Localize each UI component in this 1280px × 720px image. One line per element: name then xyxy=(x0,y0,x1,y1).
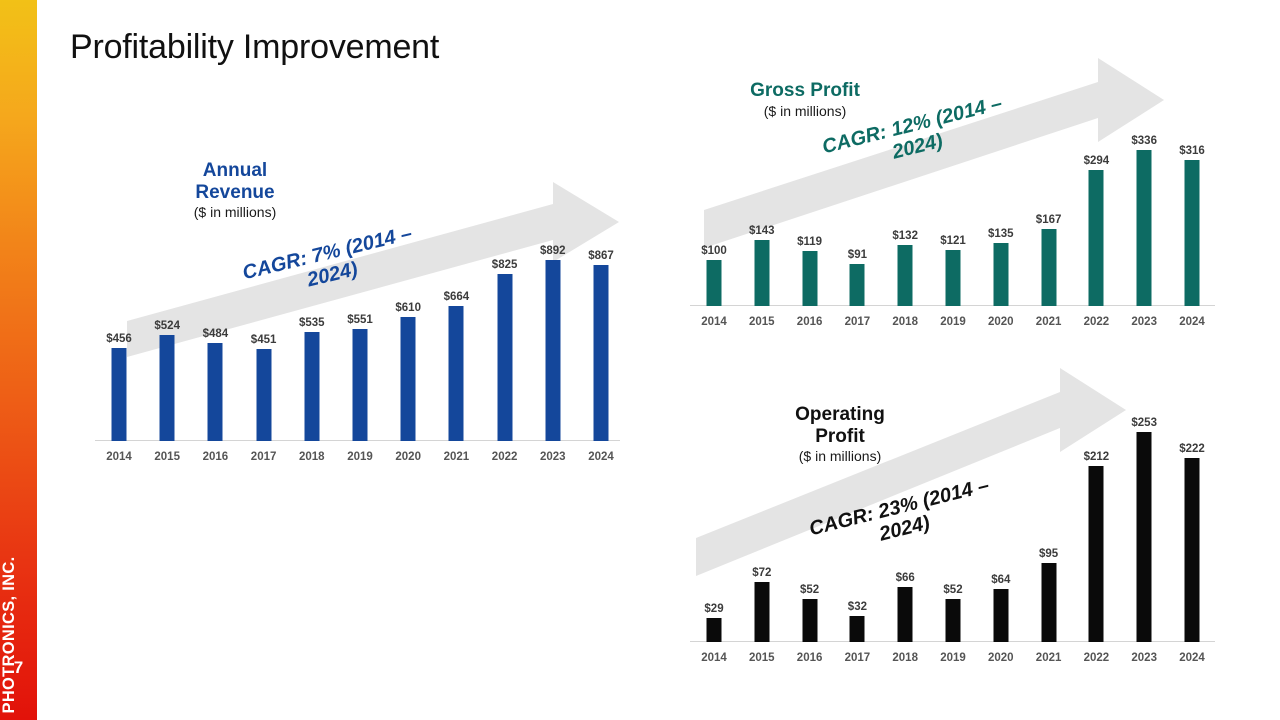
bar-group: $52 xyxy=(929,565,977,642)
bar-value-label: $143 xyxy=(749,225,775,237)
bar-group: $867 xyxy=(577,231,625,441)
bar-group: $52 xyxy=(786,565,834,642)
bar[interactable] xyxy=(850,616,865,642)
bar-group: $121 xyxy=(929,216,977,306)
bar-group: $535 xyxy=(288,298,336,441)
bar[interactable] xyxy=(707,618,722,642)
bar-value-label: $867 xyxy=(588,250,614,262)
x-axis-tick-label: 2024 xyxy=(1179,316,1205,328)
bar-group: $135 xyxy=(977,209,1025,306)
x-axis-tick-label: 2019 xyxy=(940,316,966,328)
bar-value-label: $135 xyxy=(988,228,1014,240)
bar-value-label: $535 xyxy=(299,317,325,329)
bar[interactable] xyxy=(898,587,913,642)
bar[interactable] xyxy=(208,343,223,441)
x-axis-tick-label: 2024 xyxy=(588,451,614,463)
bar-group: $551 xyxy=(336,295,384,441)
bar[interactable] xyxy=(707,260,722,306)
bar[interactable] xyxy=(112,348,127,441)
bar[interactable] xyxy=(1137,432,1152,642)
chart-title-revenue-line1: Annual xyxy=(140,160,330,182)
bar[interactable] xyxy=(1137,150,1152,306)
bar[interactable] xyxy=(1089,466,1104,642)
bar-value-label: $72 xyxy=(752,567,771,579)
bar[interactable] xyxy=(802,599,817,642)
bar-value-label: $551 xyxy=(347,314,373,326)
x-axis-tick-label: 2017 xyxy=(845,316,871,328)
x-axis-tick-label: 2016 xyxy=(203,451,229,463)
chart-annual-revenue: Annual Revenue ($ in millions) CAGR: 7% … xyxy=(95,160,635,500)
bar-group: $29 xyxy=(690,584,738,642)
bar-group: $253 xyxy=(1120,398,1168,642)
bar[interactable] xyxy=(946,250,961,306)
x-axis-tick-label: 2022 xyxy=(492,451,518,463)
bar-value-label: $456 xyxy=(106,333,132,345)
bar-group: $91 xyxy=(833,230,881,306)
bar-value-label: $484 xyxy=(203,328,229,340)
x-axis-tick-label: 2024 xyxy=(1179,652,1205,664)
bar[interactable] xyxy=(545,260,560,441)
x-axis-tick-label: 2015 xyxy=(154,451,180,463)
bar[interactable] xyxy=(1041,563,1056,642)
bar[interactable] xyxy=(898,245,913,306)
bar-value-label: $167 xyxy=(1036,214,1062,226)
x-axis-tick-label: 2023 xyxy=(540,451,566,463)
x-axis-tick-label: 2023 xyxy=(1131,652,1157,664)
bar-group: $100 xyxy=(690,226,738,306)
bar[interactable] xyxy=(160,335,175,441)
chart-gross-profit: Gross Profit ($ in millions) CAGR: 12% (… xyxy=(690,72,1215,362)
bar[interactable] xyxy=(1041,229,1056,306)
bar-value-label: $132 xyxy=(892,230,918,242)
bar-group: $66 xyxy=(881,553,929,642)
bar[interactable] xyxy=(993,243,1008,306)
bar-value-label: $825 xyxy=(492,259,518,271)
x-axis-tick-label: 2021 xyxy=(1036,652,1062,664)
x-axis-tick-label: 2018 xyxy=(892,652,918,664)
plot-area-gross: $1002014$1432015$1192016$912017$1322018$… xyxy=(690,112,1215,334)
bar-group: $451 xyxy=(240,315,288,441)
company-name-label: PHOTRONICS, INC. xyxy=(0,557,19,714)
bar[interactable] xyxy=(1089,170,1104,306)
bar-group: $316 xyxy=(1168,126,1216,306)
bar-group: $294 xyxy=(1072,136,1120,306)
bar[interactable] xyxy=(256,349,271,441)
bar-group: $64 xyxy=(977,555,1025,642)
x-axis-tick-label: 2014 xyxy=(701,316,727,328)
chart-operating-profit: Operating Profit ($ in millions) CAGR: 2… xyxy=(690,388,1215,698)
x-axis-tick-label: 2014 xyxy=(701,652,727,664)
x-axis-tick-label: 2019 xyxy=(347,451,373,463)
bar-value-label: $121 xyxy=(940,235,966,247)
bar[interactable] xyxy=(449,306,464,441)
bar[interactable] xyxy=(850,264,865,306)
bar-value-label: $29 xyxy=(704,603,723,615)
bar[interactable] xyxy=(754,582,769,642)
chart-heading-revenue: Annual Revenue ($ in millions) xyxy=(140,160,330,221)
x-axis-tick-label: 2020 xyxy=(395,451,421,463)
x-axis-tick-label: 2016 xyxy=(797,316,823,328)
bar-group: $72 xyxy=(738,548,786,642)
x-axis-tick-label: 2022 xyxy=(1084,316,1110,328)
bar-value-label: $892 xyxy=(540,245,566,257)
bar-value-label: $336 xyxy=(1131,135,1157,147)
bar-value-label: $66 xyxy=(896,572,915,584)
bar-group: $892 xyxy=(529,226,577,441)
page-number: 7 xyxy=(0,658,37,678)
bar[interactable] xyxy=(946,599,961,642)
x-axis-tick-label: 2015 xyxy=(749,316,775,328)
chart-title-gross-line1: Gross Profit xyxy=(710,80,900,102)
bar-group: $825 xyxy=(481,240,529,441)
bar[interactable] xyxy=(594,265,609,441)
bar[interactable] xyxy=(353,329,368,441)
bar-value-label: $610 xyxy=(395,302,421,314)
bar-value-label: $119 xyxy=(797,236,822,248)
page-title: Profitability Improvement xyxy=(70,28,439,67)
x-axis-tick-label: 2022 xyxy=(1084,652,1110,664)
x-axis-tick-label: 2021 xyxy=(1036,316,1062,328)
bar[interactable] xyxy=(1185,160,1200,306)
x-axis-tick-label: 2016 xyxy=(797,652,823,664)
bar[interactable] xyxy=(1185,458,1200,642)
chart-subtitle-revenue: ($ in millions) xyxy=(140,205,330,221)
bar-group: $132 xyxy=(881,211,929,306)
x-axis-tick-label: 2020 xyxy=(988,316,1014,328)
bar[interactable] xyxy=(304,332,319,441)
bar-group: $336 xyxy=(1120,116,1168,306)
bar-value-label: $32 xyxy=(848,601,867,613)
bar-value-label: $64 xyxy=(991,574,1010,586)
bar-group: $456 xyxy=(95,314,143,441)
bar[interactable] xyxy=(497,274,512,441)
bar-value-label: $294 xyxy=(1084,155,1110,167)
bar-group: $119 xyxy=(786,217,834,306)
bar-group: $32 xyxy=(833,582,881,642)
bar-value-label: $52 xyxy=(943,584,962,596)
bar-group: $484 xyxy=(191,309,239,441)
x-axis-tick-label: 2018 xyxy=(299,451,325,463)
bar[interactable] xyxy=(993,589,1008,642)
bar-group: $95 xyxy=(1025,529,1073,642)
bar-value-label: $212 xyxy=(1084,451,1110,463)
bar-group: $143 xyxy=(738,206,786,306)
bar-value-label: $95 xyxy=(1039,548,1058,560)
bar-group: $167 xyxy=(1025,195,1073,306)
bar-value-label: $52 xyxy=(800,584,819,596)
bar-group: $222 xyxy=(1168,424,1216,642)
bar-group: $610 xyxy=(384,283,432,441)
x-axis-tick-label: 2015 xyxy=(749,652,775,664)
bar[interactable] xyxy=(401,317,416,441)
bar-value-label: $451 xyxy=(251,334,277,346)
x-axis-tick-label: 2014 xyxy=(106,451,132,463)
bar[interactable] xyxy=(802,251,817,306)
bar-value-label: $91 xyxy=(848,249,867,261)
plot-area-operating: $292014$722015$522016$322017$662018$5220… xyxy=(690,388,1215,670)
x-axis-tick-label: 2021 xyxy=(444,451,470,463)
chart-title-revenue-line2: Revenue xyxy=(140,182,330,204)
bar-value-label: $222 xyxy=(1179,443,1205,455)
x-axis-tick-label: 2017 xyxy=(251,451,277,463)
bar-group: $524 xyxy=(143,301,191,441)
bar-value-label: $253 xyxy=(1131,417,1157,429)
bar[interactable] xyxy=(754,240,769,306)
x-axis-tick-label: 2018 xyxy=(892,316,918,328)
x-axis-tick-label: 2020 xyxy=(988,652,1014,664)
bar-value-label: $524 xyxy=(154,320,180,332)
bar-value-label: $100 xyxy=(701,245,727,257)
x-axis-tick-label: 2019 xyxy=(940,652,966,664)
bar-group: $212 xyxy=(1072,432,1120,642)
bar-group: $664 xyxy=(432,272,480,441)
x-axis-tick-label: 2023 xyxy=(1131,316,1157,328)
x-axis-tick-label: 2017 xyxy=(845,652,871,664)
company-name-vertical: PHOTRONICS, INC. xyxy=(0,0,37,720)
bar-value-label: $316 xyxy=(1179,145,1205,157)
bar-value-label: $664 xyxy=(444,291,470,303)
plot-area-revenue: $4562014$5242015$4842016$4512017$5352018… xyxy=(95,220,620,469)
